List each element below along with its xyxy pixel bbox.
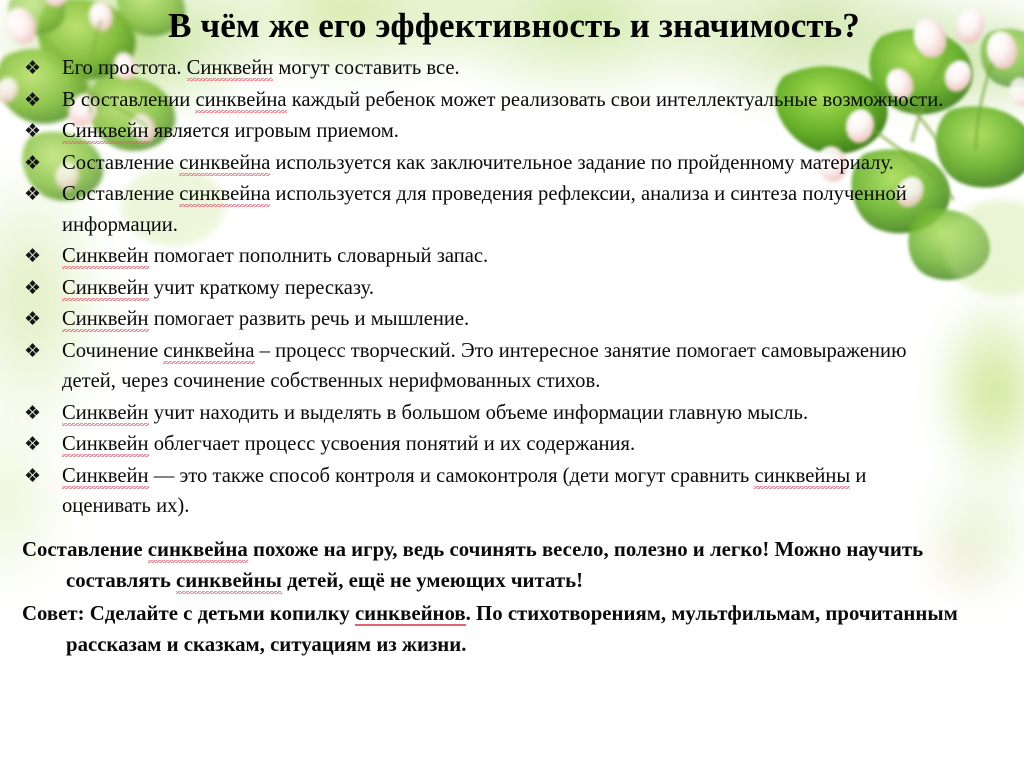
diamond-bullet-icon: ❖ — [24, 85, 41, 116]
diamond-bullet-icon: ❖ — [24, 461, 41, 492]
diamond-bullet-icon: ❖ — [24, 148, 41, 179]
footer-advice: Совет: Сделайте с детьми копилку синквей… — [22, 598, 964, 660]
bullet-game-technique-text: является игровым приемом. — [149, 120, 399, 142]
bullet-self-control: ❖Синквейн — это также способ контроля и … — [0, 461, 1024, 522]
bullet-game-technique: ❖Синквейн является игровым приемом. — [0, 116, 1024, 147]
bullet-speech-thinking-text: помогает развить речь и мышление. — [149, 308, 470, 330]
diamond-bullet-icon: ❖ — [24, 336, 41, 367]
bullet-retelling-misspelled-word: Синквейн — [62, 277, 149, 299]
diamond-bullet-icon: ❖ — [24, 398, 41, 429]
bullet-creative-process-misspelled-word: синквейна — [163, 340, 254, 362]
footer-like-a-game-misspelled-word: синквейна — [148, 538, 248, 561]
footer-advice-text: Совет: Сделайте с детьми копилку — [22, 602, 355, 625]
bullet-main-idea-text: учит находить и выделять в большом объем… — [149, 402, 809, 424]
bullet-reflection-analysis-misspelled-word: синквейна — [179, 183, 270, 205]
diamond-bullet-icon: ❖ — [24, 241, 41, 272]
bullet-reflection-analysis: ❖Составление синквейна используется для … — [0, 179, 1024, 240]
diamond-bullet-icon: ❖ — [24, 179, 41, 210]
bullet-speech-thinking-misspelled-word: Синквейн — [62, 308, 149, 330]
diamond-bullet-icon: ❖ — [24, 53, 41, 84]
bullet-self-control-misspelled-word: синквейны — [754, 465, 850, 487]
bullet-concept-mastery-misspelled-word: Синквейн — [62, 433, 149, 455]
bullet-intellectual-abilities-misspelled-word: синквейна — [195, 89, 286, 111]
bullet-main-idea: ❖Синквейн учит находить и выделять в бол… — [0, 398, 1024, 429]
bullet-intellectual-abilities-text: В составлении — [62, 89, 195, 111]
bullet-self-control-text: — это также способ контроля и самоконтро… — [149, 465, 755, 487]
bullet-simplicity-text: могут составить все. — [273, 57, 459, 79]
bullet-creative-process: ❖Сочинение синквейна – процесс творчески… — [0, 336, 1024, 397]
bullet-game-technique-misspelled-word: Синквейн — [62, 120, 149, 142]
bullet-final-task: ❖Составление синквейна используется как … — [0, 148, 1024, 179]
bullet-creative-process-text: Сочинение — [62, 340, 163, 362]
bullet-simplicity-text: Его простота. — [62, 57, 187, 79]
bullet-concept-mastery-text: облегчает процесс усвоения понятий и их … — [149, 433, 636, 455]
bullet-retelling-text: учит краткому пересказу. — [149, 277, 374, 299]
bullet-main-idea-misspelled-word: Синквейн — [62, 402, 149, 424]
diamond-bullet-icon: ❖ — [24, 304, 41, 335]
bullet-speech-thinking: ❖Синквейн помогает развить речь и мышлен… — [0, 304, 1024, 335]
bullet-vocabulary-misspelled-word: Синквейн — [62, 245, 149, 267]
benefits-bullet-list: ❖Его простота. Синквейн могут составить … — [0, 53, 1024, 522]
bullet-reflection-analysis-text: Составление — [62, 183, 179, 205]
bullet-simplicity: ❖Его простота. Синквейн могут составить … — [0, 53, 1024, 84]
bullet-self-control-misspelled-word: Синквейн — [62, 465, 149, 487]
bullet-vocabulary: ❖Синквейн помогает пополнить словарный з… — [0, 241, 1024, 272]
bullet-vocabulary-text: помогает пополнить словарный запас. — [149, 245, 489, 267]
footer-like-a-game: Составление синквейна похоже на игру, ве… — [22, 534, 964, 596]
footer-advice-misspelled-word: синквейнов — [355, 602, 466, 625]
bullet-intellectual-abilities-text: каждый ребенок может реализовать свои ин… — [287, 89, 944, 111]
bullet-retelling: ❖Синквейн учит краткому пересказу. — [0, 273, 1024, 304]
diamond-bullet-icon: ❖ — [24, 429, 41, 460]
page-title: В чём же его эффективность и значимость? — [0, 0, 1024, 47]
slide-content: В чём же его эффективность и значимость?… — [0, 0, 1024, 660]
bullet-final-task-misspelled-word: синквейна — [179, 152, 270, 174]
footer-like-a-game-misspelled-word: синквейны — [176, 569, 282, 592]
diamond-bullet-icon: ❖ — [24, 273, 41, 304]
presentation-slide: В чём же его эффективность и значимость?… — [0, 0, 1024, 762]
bullet-final-task-text: Составление — [62, 152, 179, 174]
bullet-simplicity-misspelled-word: Синквейн — [187, 57, 274, 79]
bullet-concept-mastery: ❖Синквейн облегчает процесс усвоения пон… — [0, 429, 1024, 460]
footer-paragraph-block: Составление синквейна похоже на игру, ве… — [0, 534, 1024, 660]
footer-like-a-game-text: детей, ещё не умеющих читать! — [282, 569, 583, 592]
footer-like-a-game-text: Составление — [22, 538, 148, 561]
bullet-intellectual-abilities: ❖В составлении синквейна каждый ребенок … — [0, 85, 1024, 116]
diamond-bullet-icon: ❖ — [24, 116, 41, 147]
bullet-final-task-text: используется как заключительное задание … — [270, 152, 893, 174]
